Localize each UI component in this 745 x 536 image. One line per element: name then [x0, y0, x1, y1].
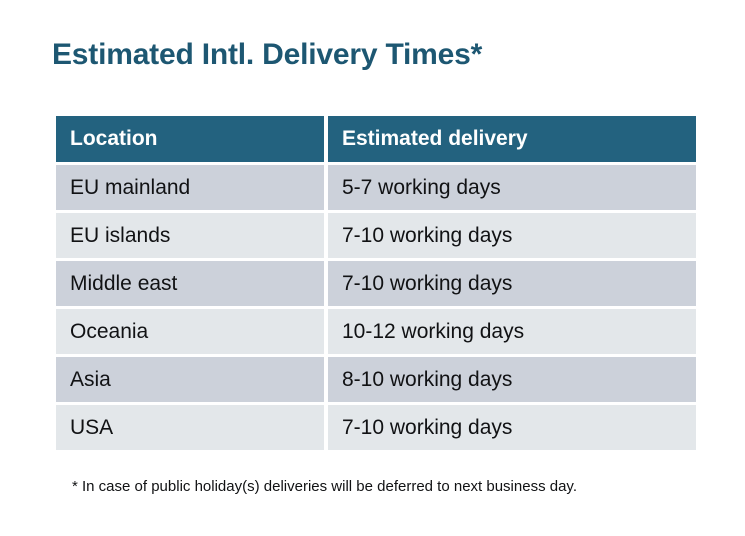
cell-delivery: 10-12 working days: [328, 309, 696, 354]
column-header-location: Location: [56, 116, 324, 162]
cell-location: USA: [56, 405, 324, 450]
cell-delivery: 7-10 working days: [328, 261, 696, 306]
table-row: EU islands 7-10 working days: [56, 213, 696, 258]
footnote: * In case of public holiday(s) deliverie…: [72, 478, 577, 495]
table-header: Location Estimated delivery: [56, 116, 696, 162]
table-header-row: Location Estimated delivery: [56, 116, 696, 162]
cell-location: Oceania: [56, 309, 324, 354]
cell-delivery: 8-10 working days: [328, 357, 696, 402]
table-row: Middle east 7-10 working days: [56, 261, 696, 306]
column-header-delivery: Estimated delivery: [328, 116, 696, 162]
delivery-times-page: Estimated Intl. Delivery Times* Location…: [0, 0, 745, 536]
cell-delivery: 7-10 working days: [328, 213, 696, 258]
table-row: Oceania 10-12 working days: [56, 309, 696, 354]
table-row: Asia 8-10 working days: [56, 357, 696, 402]
cell-location: Asia: [56, 357, 324, 402]
cell-delivery: 7-10 working days: [328, 405, 696, 450]
cell-location: EU mainland: [56, 165, 324, 210]
cell-location: EU islands: [56, 213, 324, 258]
cell-delivery: 5-7 working days: [328, 165, 696, 210]
cell-location: Middle east: [56, 261, 324, 306]
table-row: EU mainland 5-7 working days: [56, 165, 696, 210]
delivery-times-table: Location Estimated delivery EU mainland …: [52, 113, 700, 453]
table-row: USA 7-10 working days: [56, 405, 696, 450]
table-body: EU mainland 5-7 working days EU islands …: [56, 165, 696, 450]
page-title: Estimated Intl. Delivery Times*: [52, 38, 482, 72]
